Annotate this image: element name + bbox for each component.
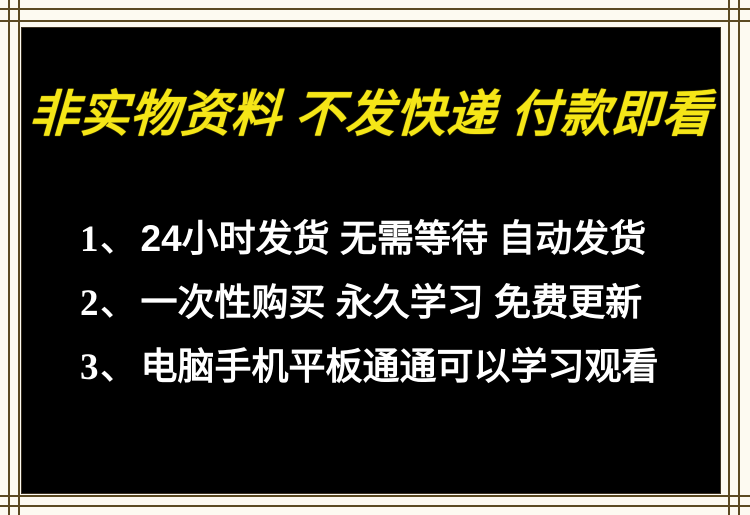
bullet-separator: 、: [101, 288, 135, 322]
frame-rule-top-inner: [0, 20, 750, 22]
bullet-text: 电脑手机平板通通可以学习观看: [141, 348, 659, 385]
bullet-number: 2: [80, 285, 99, 322]
list-item: 1 、 24小时发货 无需等待 自动发货: [80, 220, 696, 284]
frame-rule-top-outer: [0, 8, 750, 10]
frame-rule-right-inner: [728, 0, 730, 515]
frame-rule-bottom-inner: [0, 495, 750, 497]
headline: 非实物资料 不发快递 付款即看: [22, 72, 720, 158]
content-panel: 非实物资料 不发快递 付款即看 1 、 24小时发货 无需等待 自动发货 2 、…: [22, 28, 720, 493]
frame-rule-left-inner: [18, 0, 20, 515]
bullet-number: 3: [80, 349, 99, 386]
bullet-list: 1 、 24小时发货 无需等待 自动发货 2 、 一次性购买 永久学习 免费更新…: [80, 220, 696, 412]
list-item: 3 、 电脑手机平板通通可以学习观看: [80, 348, 696, 412]
bullet-separator: 、: [101, 352, 135, 386]
bullet-text: 一次性购买 永久学习 免费更新: [141, 284, 643, 321]
frame-rule-right-outer: [738, 0, 740, 515]
headline-text: 非实物资料 不发快递 付款即看: [29, 90, 714, 140]
bullet-text: 24小时发货 无需等待 自动发货: [141, 220, 647, 257]
frame-rule-left-outer: [8, 0, 10, 515]
list-item: 2 、 一次性购买 永久学习 免费更新: [80, 284, 696, 348]
promo-banner: 非实物资料 不发快递 付款即看 1 、 24小时发货 无需等待 自动发货 2 、…: [0, 0, 750, 515]
frame-rule-bottom-outer: [0, 505, 750, 507]
bullet-separator: 、: [101, 224, 135, 258]
bullet-number: 1: [80, 221, 99, 258]
